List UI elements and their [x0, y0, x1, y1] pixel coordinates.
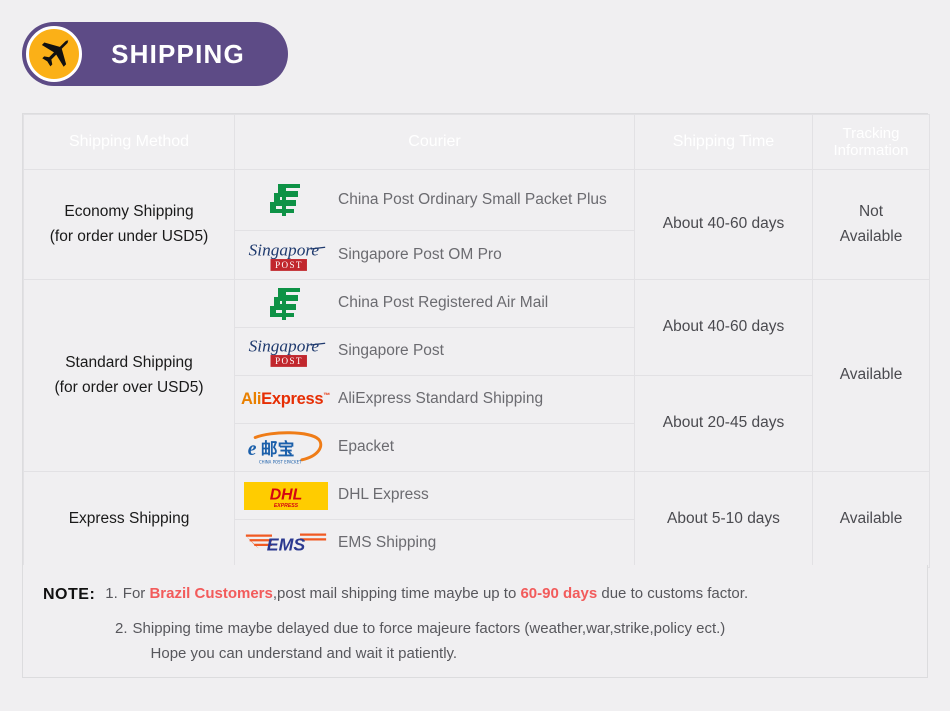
- method-express-shipping: Express Shipping: [24, 472, 235, 568]
- courier-name: China Post Ordinary Small Packet Plus: [336, 183, 615, 217]
- shipping-time-value: About 40-60 days: [635, 170, 813, 280]
- svg-text:EXPRESS: EXPRESS: [273, 503, 298, 509]
- table-row: Economy Shipping (for order under USD5): [24, 170, 930, 231]
- header-tracking-line2: Information: [817, 142, 925, 159]
- notes-section: NOTE: 1. For Brazil Customers,post mail …: [22, 565, 928, 678]
- courier-name: Epacket: [336, 430, 402, 464]
- header-courier: Courier: [235, 115, 635, 170]
- svg-text:EMS: EMS: [266, 535, 305, 555]
- epacket-logo: e 邮宝 CHINA POST EPACKET: [235, 427, 336, 468]
- svg-text:CHINA POST EPACKET: CHINA POST EPACKET: [258, 459, 301, 464]
- header-shipping-method: Shipping Method: [24, 115, 235, 170]
- method-economy-shipping: Economy Shipping (for order under USD5): [24, 170, 235, 280]
- note-1-part3: due to customs factor.: [597, 585, 748, 602]
- tracking-status: Available: [813, 472, 930, 568]
- tracking-status: Not Available: [813, 170, 930, 280]
- china-post-logo: [235, 283, 336, 325]
- banner-title: SHIPPING: [82, 39, 288, 70]
- ems-logo: EMS: [235, 527, 336, 559]
- aliexpress-logo: AliExpress™: [235, 387, 336, 412]
- method-standard-shipping: Standard Shipping (for order over USD5): [24, 280, 235, 472]
- note-1-number: 1.: [105, 583, 123, 605]
- note-item-1: NOTE: 1. For Brazil Customers,post mail …: [43, 583, 907, 606]
- table-row: Express Shipping DHL EXPRESS DHL: [24, 472, 930, 520]
- courier-name: DHL Express: [336, 478, 437, 512]
- shipping-table: Shipping Method Courier Shipping Time Tr…: [23, 114, 930, 568]
- shipping-time-value: About 20-45 days: [635, 376, 813, 472]
- shipping-table-container: Shipping Method Courier Shipping Time Tr…: [22, 113, 928, 569]
- shipping-time-value: About 5-10 days: [635, 472, 813, 568]
- note-2-text: Shipping time maybe delayed due to force…: [133, 618, 907, 665]
- note-1-part1: For: [123, 585, 150, 602]
- courier-cell: EMS EMS Shipping: [235, 520, 635, 568]
- method-label-line1: Standard Shipping: [28, 351, 230, 375]
- tracking-line1: Not: [817, 200, 925, 224]
- singapore-post-logo: Singapore POST: [235, 236, 336, 275]
- note-2-line1: Shipping time maybe delayed due to force…: [133, 618, 907, 640]
- courier-name: AliExpress Standard Shipping: [336, 382, 551, 416]
- note-1-highlight-brazil: Brazil Customers: [149, 585, 272, 602]
- note-label: NOTE:: [43, 583, 105, 606]
- svg-text:POST: POST: [275, 356, 303, 366]
- note-item-2: 2. Shipping time maybe delayed due to fo…: [43, 618, 907, 665]
- singapore-post-logo: Singapore POST: [235, 332, 336, 371]
- tracking-status: Available: [813, 280, 930, 472]
- table-header-row: Shipping Method Courier Shipping Time Tr…: [24, 115, 930, 170]
- header-shipping-time: Shipping Time: [635, 115, 813, 170]
- courier-cell: AliExpress™ AliExpress Standard Shipping: [235, 376, 635, 424]
- courier-name: EMS Shipping: [336, 526, 444, 560]
- method-label-line1: Express Shipping: [28, 507, 230, 531]
- note-1-highlight-days: 60-90 days: [520, 585, 597, 602]
- table-header: Shipping Method Courier Shipping Time Tr…: [24, 115, 930, 170]
- svg-text:POST: POST: [275, 260, 303, 270]
- note-2-line2: Hope you can understand and wait it pati…: [133, 643, 907, 665]
- china-post-logo: [235, 179, 336, 221]
- table-body: Economy Shipping (for order under USD5): [24, 170, 930, 568]
- aliexpress-express-text: Express: [261, 390, 323, 408]
- method-label-line1: Economy Shipping: [28, 200, 230, 224]
- shipping-banner: SHIPPING: [22, 22, 288, 86]
- note-1-text: For Brazil Customers,post mail shipping …: [123, 583, 907, 605]
- tracking-line2: Available: [817, 225, 925, 249]
- courier-name: Singapore Post OM Pro: [336, 238, 510, 272]
- svg-text:e: e: [247, 439, 256, 460]
- trademark-icon: ™: [323, 393, 330, 400]
- courier-name: Singapore Post: [336, 334, 452, 368]
- svg-text:邮宝: 邮宝: [260, 439, 294, 459]
- header-tracking-line1: Tracking: [817, 125, 925, 142]
- courier-cell: China Post Ordinary Small Packet Plus: [235, 170, 635, 231]
- method-label-line2: (for order under USD5): [28, 225, 230, 249]
- header-tracking-information: Tracking Information: [813, 115, 930, 170]
- courier-cell: DHL EXPRESS DHL Express: [235, 472, 635, 520]
- courier-cell: China Post Registered Air Mail: [235, 280, 635, 328]
- airplane-icon: [26, 26, 82, 82]
- shipping-info-page: SHIPPING Shipping Method Courier Shippin…: [0, 0, 950, 711]
- svg-text:Singapore: Singapore: [248, 240, 319, 259]
- dhl-logo: DHL EXPRESS: [235, 479, 336, 513]
- courier-cell: Singapore POST Singapore Post: [235, 328, 635, 376]
- method-label-line2: (for order over USD5): [28, 376, 230, 400]
- svg-text:DHL: DHL: [269, 486, 302, 503]
- courier-cell: Singapore POST Singapore Post OM Pro: [235, 231, 635, 280]
- courier-name: China Post Registered Air Mail: [336, 286, 556, 320]
- table-row: Standard Shipping (for order over USD5): [24, 280, 930, 328]
- courier-cell: e 邮宝 CHINA POST EPACKET Epacket: [235, 424, 635, 472]
- aliexpress-ali-text: Ali: [241, 390, 261, 408]
- shipping-time-value: About 40-60 days: [635, 280, 813, 376]
- svg-text:Singapore: Singapore: [248, 336, 319, 355]
- note-2-number: 2.: [115, 618, 133, 640]
- note-1-part2: ,post mail shipping time maybe up to: [273, 585, 521, 602]
